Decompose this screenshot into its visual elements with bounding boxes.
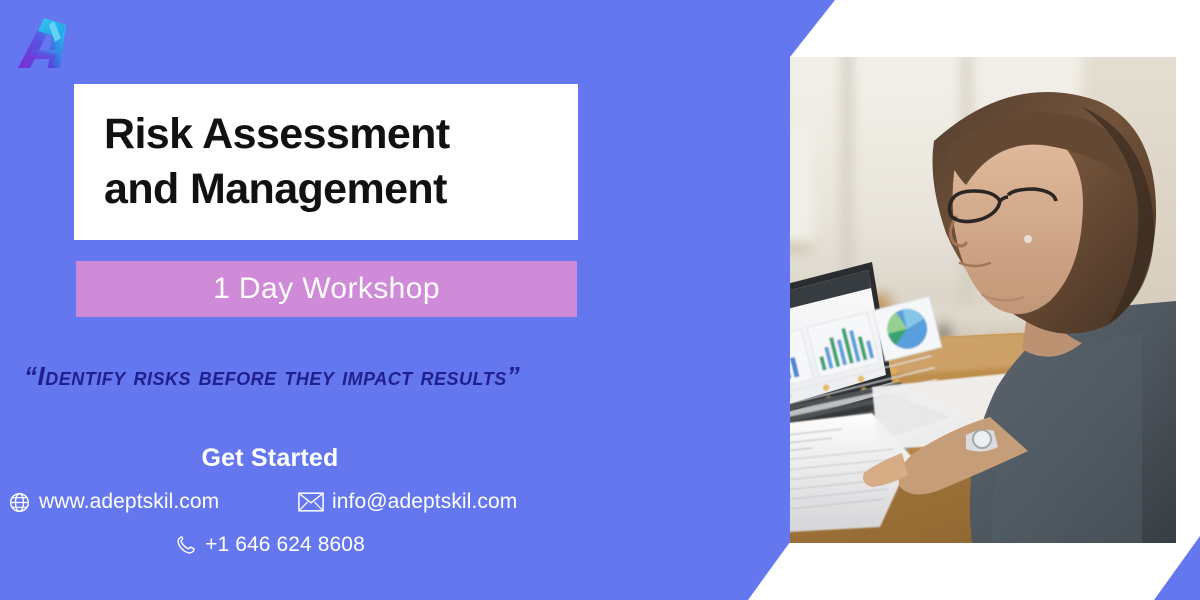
title-line-1: Risk Assessment [104, 107, 578, 162]
title-card: Risk Assessment and Management [74, 84, 578, 240]
subtitle-text: 1 Day Workshop [213, 272, 440, 306]
email-text: info@adeptskil.com [332, 490, 517, 514]
phone-icon [175, 534, 197, 556]
phone-text: +1 646 624 8608 [205, 533, 365, 557]
promo-poster: Risk Assessment and Management 1 Day Wor… [0, 0, 1200, 600]
contact-row-secondary: +1 646 624 8608 [0, 533, 540, 557]
adeptskil-logo-icon [14, 12, 78, 74]
title-line-2: and Management [104, 162, 578, 217]
get-started-heading: Get Started [0, 444, 540, 473]
globe-icon [8, 491, 31, 514]
contact-row-primary: www.adeptskil.com info@adeptskil.com [8, 490, 536, 514]
envelope-icon [298, 492, 324, 512]
tagline: “Identify risks before they impact resul… [24, 361, 544, 392]
contact-email[interactable]: info@adeptskil.com [298, 490, 517, 514]
contact-website[interactable]: www.adeptskil.com [8, 490, 298, 514]
contact-phone[interactable]: +1 646 624 8608 [175, 533, 365, 557]
hero-photo-illustration [542, 57, 1176, 543]
website-text: www.adeptskil.com [39, 490, 219, 514]
corner-accent-wedge [1110, 530, 1200, 600]
hero-photo [542, 57, 1176, 543]
subtitle-band: 1 Day Workshop [76, 261, 577, 317]
